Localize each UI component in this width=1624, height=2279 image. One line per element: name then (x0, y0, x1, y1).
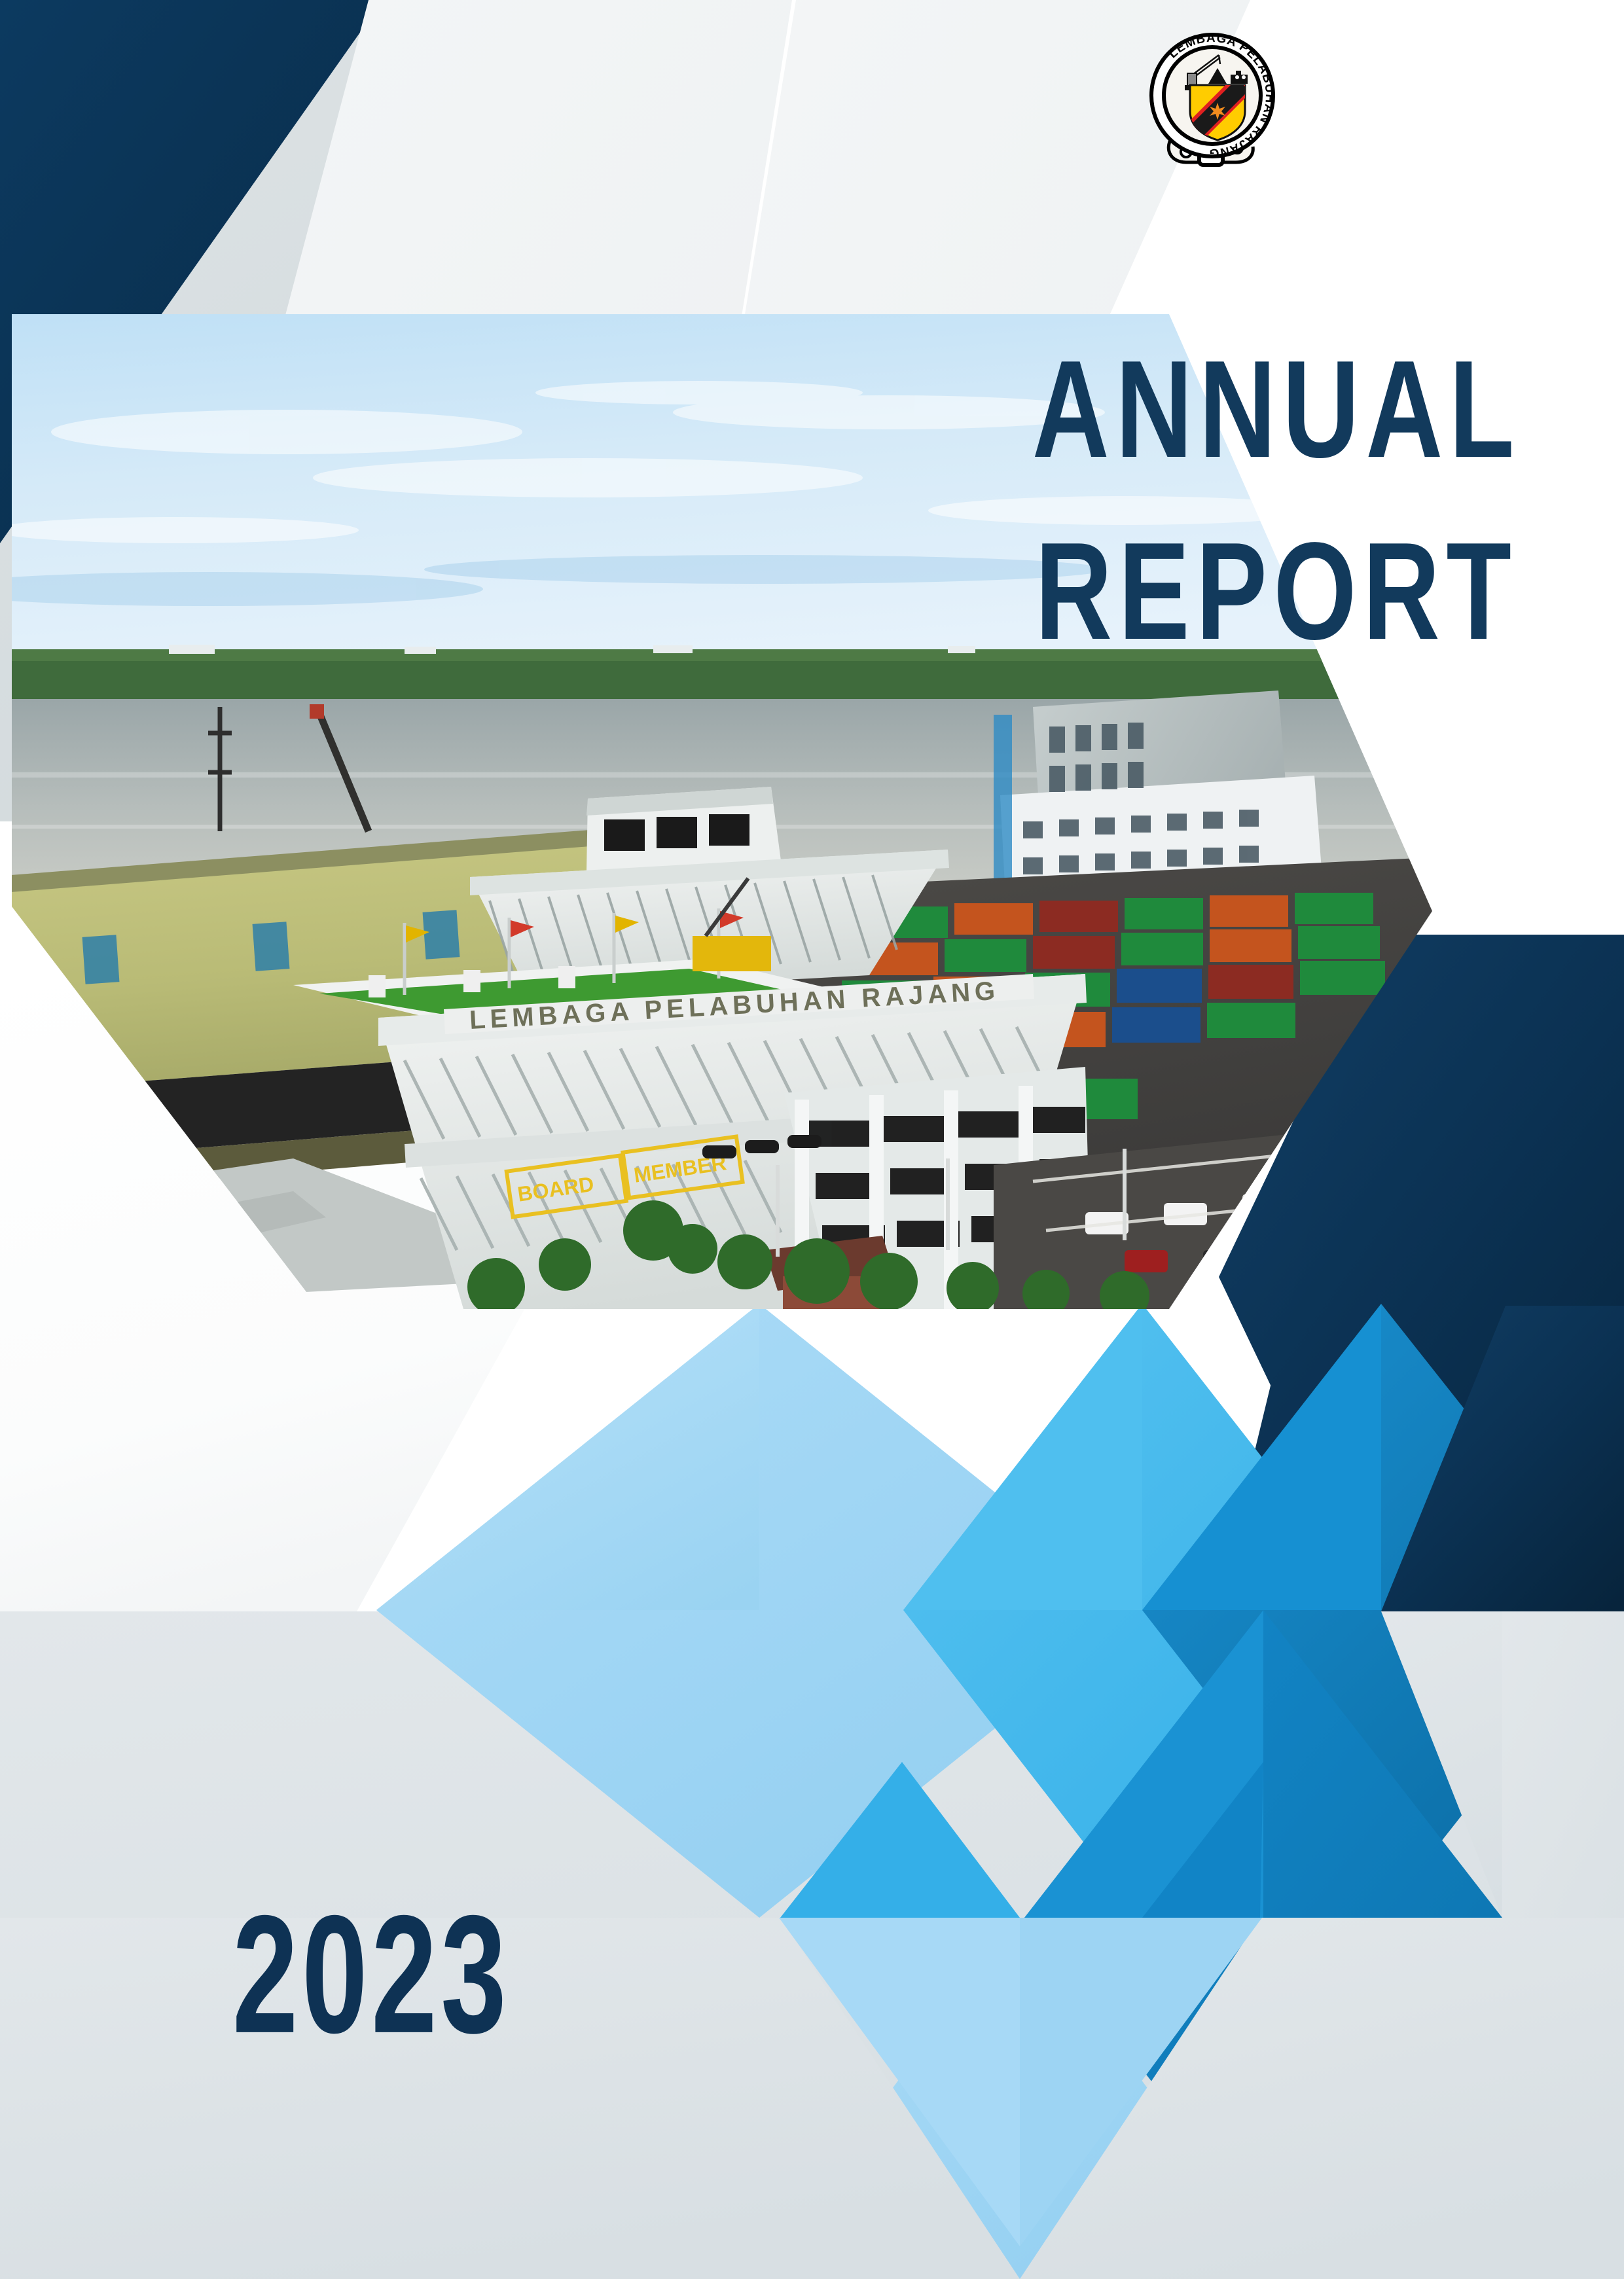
annual-report-cover-page: LEMBAGA PELABUHAN RAJANG (0, 0, 1624, 2279)
lembaga-pelabuhan-rajang-logo: LEMBAGA PELABUHAN RAJANG (1138, 27, 1288, 178)
page-title-line-1: ANNUAL (1003, 314, 1549, 505)
report-year: 2023 (232, 1878, 510, 2071)
page-title-line-2: REPORT (1003, 496, 1549, 687)
cover-title-block: ANNUAL REPORT (995, 314, 1558, 648)
